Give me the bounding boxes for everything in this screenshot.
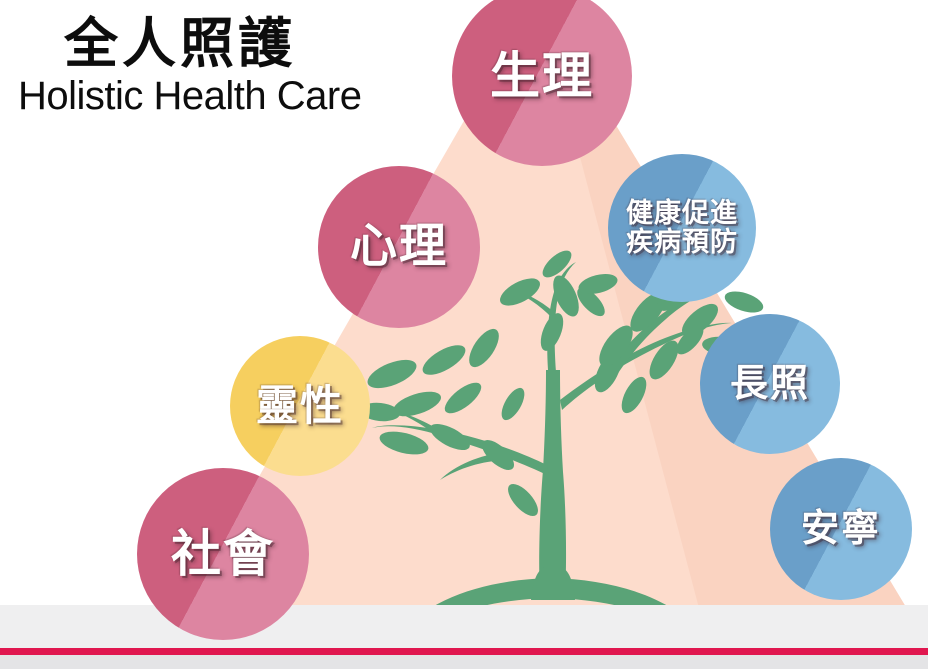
bubble-health-promotion[interactable]: 健康促進 疾病預防 <box>608 154 756 302</box>
bubble-hospice-care[interactable]: 安寧 <box>770 458 912 600</box>
title-block: 全人照護 Holistic Health Care <box>18 16 438 117</box>
bubble-social[interactable]: 社會 <box>137 468 309 640</box>
bubble-label-long-term-care: 長照 <box>730 363 810 404</box>
bubble-long-term-care[interactable]: 長照 <box>700 314 840 454</box>
bubble-label-hospice-care: 安寧 <box>801 508 881 549</box>
bubble-label-physiological: 生理 <box>490 49 594 103</box>
page-title-zh: 全人照護 <box>64 16 438 73</box>
footer-strip-lower <box>0 655 928 669</box>
bubble-spiritual[interactable]: 靈性 <box>230 336 370 476</box>
footer-strip-upper <box>0 605 928 648</box>
bubble-label-spiritual: 靈性 <box>256 383 344 428</box>
bubble-label-health-promotion: 健康促進 疾病預防 <box>626 199 738 257</box>
bubble-psychological[interactable]: 心理 <box>318 166 480 328</box>
footer-accent-line <box>0 648 928 655</box>
bubble-label-social: 社會 <box>171 527 275 581</box>
bubble-label-psychological: 心理 <box>350 222 448 273</box>
page-title-en: Holistic Health Care <box>18 75 438 117</box>
slide-canvas: 全人照護 Holistic Health Care 生理 心理 靈性 社會 健康… <box>0 0 928 669</box>
